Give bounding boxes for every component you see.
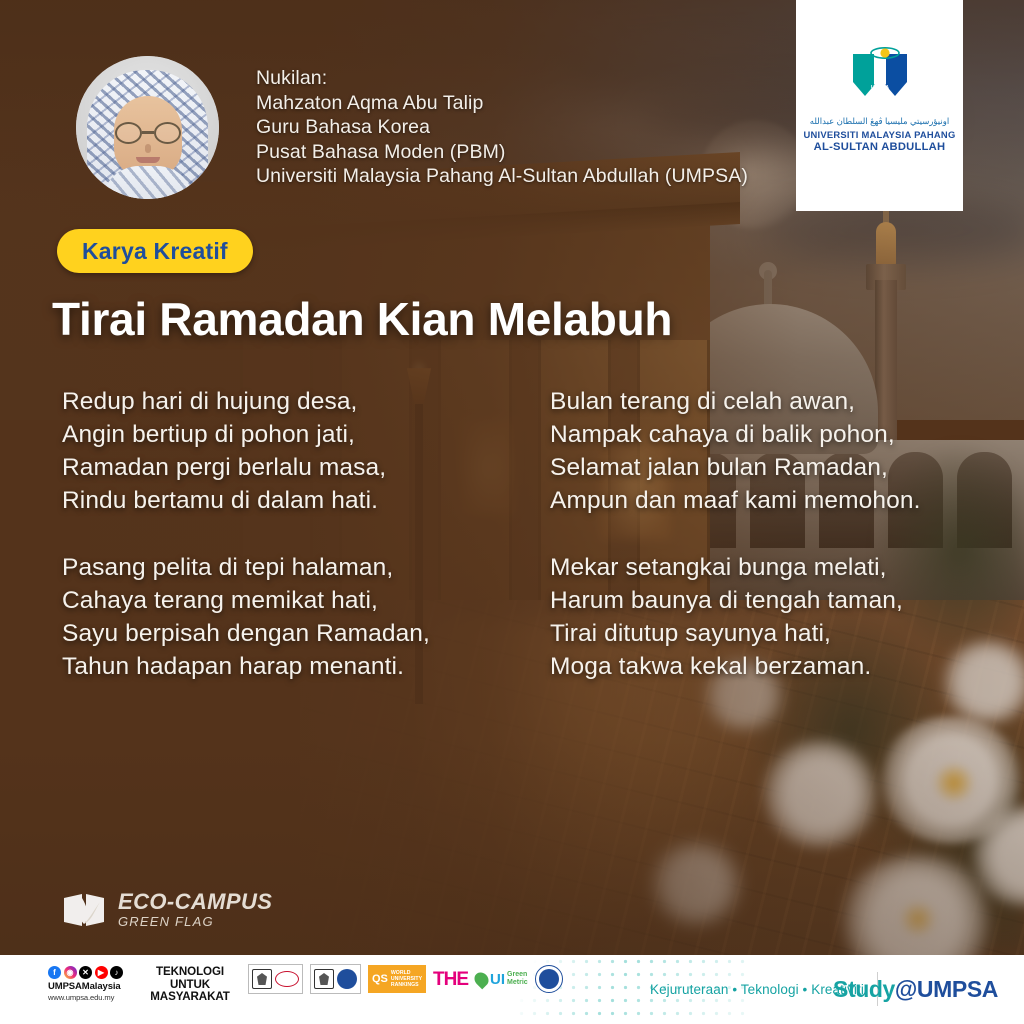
poem-line: Ampun dan maaf kami memohon. <box>550 484 978 517</box>
tech-award-seal-badge <box>535 965 563 993</box>
umpsa-shield-icon: UMPSA <box>847 44 913 106</box>
credit-role: Guru Bahasa Korea <box>256 115 776 140</box>
study-at-umpsa-logo[interactable]: Study@UMPSA <box>833 976 998 1003</box>
ui-greenmetric-badge: UIGreenMetric <box>475 971 528 987</box>
umpsa-name-line1: UNIVERSITI MALAYSIA PAHANG <box>804 129 956 140</box>
qs-world-university-rankings-badge: QS WORLD UNIVERSITY RANKINGS <box>368 965 426 993</box>
eco-campus-line1: ECO-CAMPUS <box>118 890 272 914</box>
poem-line: Nampak cahaya di balik pohon, <box>550 418 978 451</box>
the-label: THE <box>433 971 468 988</box>
poem-line: Ramadan pergi berlalu masa, <box>62 451 490 484</box>
poem-line: Pasang pelita di tepi halaman, <box>62 551 490 584</box>
social-media-block: f ◉ ✕ ▶ ♪ UMPSAMalaysia www.umpsa.edu.my <box>48 966 130 1002</box>
slogan-line3: MASYARAKAT <box>140 991 240 1004</box>
poem-line: Tahun hadapan harap menanti. <box>62 650 490 683</box>
glasses-icon <box>115 122 181 144</box>
category-badge: Karya Kreatif <box>57 229 253 273</box>
author-credit-block: Nukilan: Mahzaton Aqma Abu Talip Guru Ba… <box>256 66 776 189</box>
footer-slogan: TEKNOLOGI UNTUK MASYARAKAT <box>140 966 240 1004</box>
facebook-icon[interactable]: f <box>48 966 61 979</box>
leaf-icon <box>472 969 492 989</box>
poem-line: Bulan terang di celah awan, <box>550 385 978 418</box>
eco-campus-line2: GREEN FLAG <box>118 914 272 930</box>
footer-tagline: Kejuruteraan • Teknologi • Kreativiti <box>650 982 864 997</box>
stanza: Redup hari di hujung desa, Angin bertiup… <box>62 385 490 517</box>
poem-line: Angin bertiup di pohon jati, <box>62 418 490 451</box>
poem-line: Harum baunya di tengah taman, <box>550 584 978 617</box>
credit-label: Nukilan: <box>256 66 776 91</box>
umpsa-word: @UMPSA <box>895 976 998 1002</box>
svg-text:UMPSA: UMPSA <box>870 85 888 91</box>
page-title: Tirai Ramadan Kian Melabuh <box>52 292 832 346</box>
website-url[interactable]: www.umpsa.edu.my <box>48 993 130 1002</box>
poster-content: Nukilan: Mahzaton Aqma Abu Talip Guru Ba… <box>0 0 1024 1024</box>
poem-body: Redup hari di hujung desa, Angin bertiup… <box>62 385 978 717</box>
eco-campus-logo: ECO-CAMPUS GREEN FLAG <box>62 890 272 930</box>
credit-department: Pusat Bahasa Moden (PBM) <box>256 140 776 165</box>
qs-line3: RANKINGS <box>391 982 422 988</box>
poem-line: Cahaya terang memikat hati, <box>62 584 490 617</box>
poem-line: Sayu berpisah dengan Ramadan, <box>62 617 490 650</box>
mqa-accreditation-badge <box>248 964 303 994</box>
stanza: Bulan terang di celah awan, Nampak cahay… <box>550 385 978 517</box>
social-handle: UMPSAMalaysia <box>48 981 130 992</box>
times-higher-education-badge: THE <box>433 971 468 988</box>
poem-column-right: Bulan terang di celah awan, Nampak cahay… <box>550 385 978 717</box>
book-leaf-icon <box>62 890 106 930</box>
slogan-line1: TEKNOLOGI <box>140 966 240 979</box>
credit-institution: Universiti Malaysia Pahang Al-Sultan Abd… <box>256 164 776 189</box>
tiktok-icon[interactable]: ♪ <box>110 966 123 979</box>
poem-line: Mekar setangkai bunga melati, <box>550 551 978 584</box>
poem-line: Moga takwa kekal berzaman. <box>550 650 978 683</box>
poem-line: Selamat jalan bulan Ramadan, <box>550 451 978 484</box>
x-icon[interactable]: ✕ <box>79 966 92 979</box>
study-word: Study <box>833 976 895 1002</box>
stanza: Mekar setangkai bunga melati, Harum baun… <box>550 551 978 683</box>
umpsa-logo-card: UMPSA اونيؤرسيتي مليسيا ڤهڠ السلطان عبدا… <box>796 0 963 211</box>
author-avatar <box>76 56 219 199</box>
poem-line: Tirai ditutup sayunya hati, <box>550 617 978 650</box>
stanza: Pasang pelita di tepi halaman, Cahaya te… <box>62 551 490 683</box>
poem-line: Redup hari di hujung desa, <box>62 385 490 418</box>
instagram-icon[interactable]: ◉ <box>64 966 77 979</box>
credit-name: Mahzaton Aqma Abu Talip <box>256 91 776 116</box>
qs-stars-badge <box>310 964 361 994</box>
umpsa-name-line2: AL-SULTAN ABDULLAH <box>814 141 946 153</box>
accreditation-badges: QS WORLD UNIVERSITY RANKINGS THE UIGreen… <box>248 964 563 994</box>
umpsa-jawi-text: اونيؤرسيتي مليسيا ڤهڠ السلطان عبدالله <box>810 116 949 127</box>
category-badge-label: Karya Kreatif <box>82 238 228 265</box>
poster-canvas: Nukilan: Mahzaton Aqma Abu Talip Guru Ba… <box>0 0 1024 1024</box>
poem-line: Rindu bertamu di dalam hati. <box>62 484 490 517</box>
youtube-icon[interactable]: ▶ <box>95 966 108 979</box>
poem-column-left: Redup hari di hujung desa, Angin bertiup… <box>62 385 490 717</box>
